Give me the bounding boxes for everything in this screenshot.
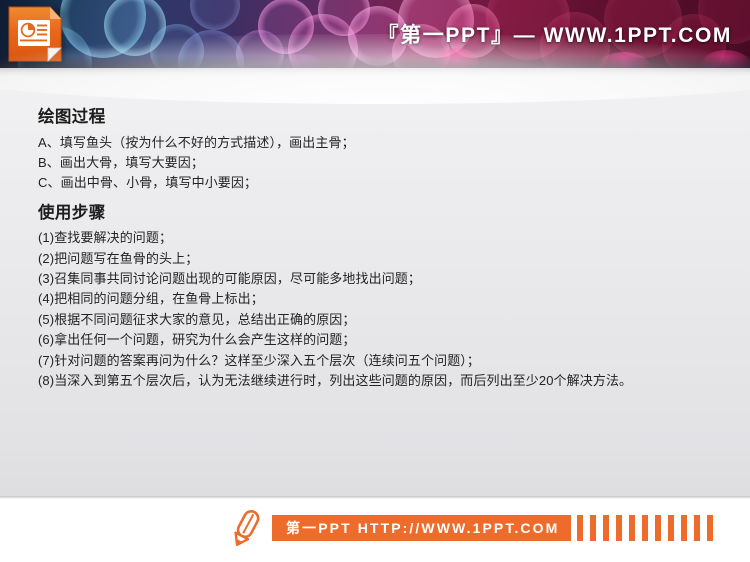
footer-tick-marks	[577, 515, 720, 541]
drawing-process-line-b: B、画出大骨，填写大要因；	[38, 153, 728, 173]
usage-step-2: (2)把问题写在鱼骨的头上；	[38, 249, 728, 269]
footer-bar: 第一PPT HTTP://WWW.1PPT.COM	[0, 496, 750, 562]
content-block: 绘图过程 A、填写鱼头（按为什么不好的方式描述），画出主骨； B、画出大骨，填写…	[38, 109, 728, 391]
footer-tick	[655, 515, 661, 541]
usage-step-7: (7)针对问题的答案再问为什么？这样至少深入五个层次（连续问五个问题）；	[38, 351, 728, 371]
footer-tick	[616, 515, 622, 541]
usage-step-1: (1)查找要解决的问题；	[38, 228, 728, 248]
usage-step-4: (4)把相同的问题分组，在鱼骨上标出；	[38, 289, 728, 309]
footer-tick	[590, 515, 596, 541]
usage-step-3: (3)召集同事共同讨论问题出现的可能原因，尽可能多地找出问题；	[38, 269, 728, 289]
footer-divider	[0, 496, 750, 499]
section-gap	[38, 194, 728, 205]
footer-tick	[707, 515, 713, 541]
section-heading-drawing-process: 绘图过程	[38, 109, 728, 126]
drawing-process-line-a: A、填写鱼头（按为什么不好的方式描述），画出主骨；	[38, 133, 728, 153]
drawing-process-line-c: C、画出中骨、小骨，填写中小要因；	[38, 173, 728, 193]
pencil-icon	[228, 507, 264, 549]
footer-tick	[629, 515, 635, 541]
footer-tick	[668, 515, 674, 541]
slide-canvas: 『第一PPT』— WWW.1PPT.COM 绘图过程 A、填写鱼头（按为什么不好…	[0, 0, 750, 562]
footer-tick	[603, 515, 609, 541]
footer-tick	[577, 515, 583, 541]
section-heading-usage-steps: 使用步骤	[38, 205, 728, 222]
footer-url-text: 第一PPT HTTP://WWW.1PPT.COM	[286, 521, 559, 535]
footer-tick	[681, 515, 687, 541]
slide-body: 绘图过程 A、填写鱼头（按为什么不好的方式描述），画出主骨； B、画出大骨，填写…	[0, 68, 750, 496]
footer-branding: 第一PPT HTTP://WWW.1PPT.COM	[228, 508, 720, 548]
footer-tick	[694, 515, 700, 541]
footer-tick	[642, 515, 648, 541]
usage-step-8: (8)当深入到第五个层次后，认为无法继续进行时，列出这些问题的原因，而后列出至少…	[38, 371, 728, 391]
footer-url-bar: 第一PPT HTTP://WWW.1PPT.COM	[272, 515, 571, 541]
usage-step-6: (6)拿出任何一个问题，研究为什么会产生这样的问题；	[38, 330, 728, 350]
body-sheen-highlight	[0, 34, 750, 104]
usage-step-5: (5)根据不同问题征求大家的意见，总结出正确的原因；	[38, 310, 728, 330]
